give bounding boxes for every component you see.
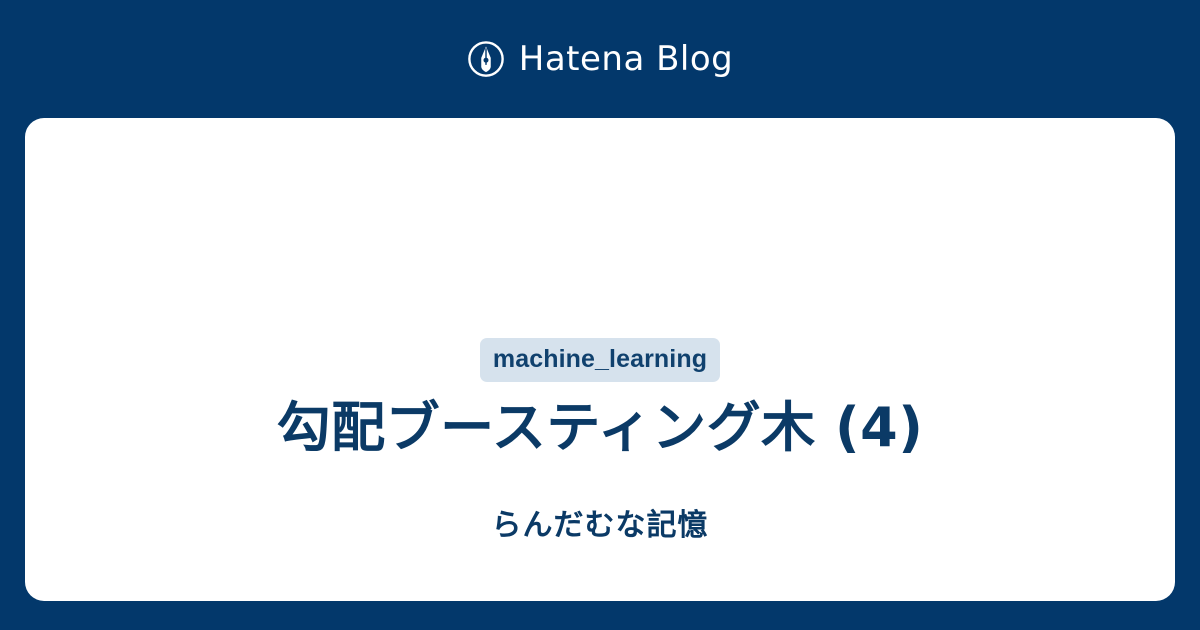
brand-header: Hatena Blog	[0, 0, 1200, 118]
blog-name[interactable]: らんだむな記憶	[492, 508, 709, 544]
entry-card: machine_learning 勾配ブースティング木 (4) らんだむな記憶	[25, 118, 1175, 601]
blog-name-row: らんだむな記憶	[25, 508, 1175, 544]
brand-name: Hatena Blog	[519, 42, 734, 76]
entry-title: 勾配ブースティング木 (4)	[277, 398, 924, 458]
category-badge[interactable]: machine_learning	[480, 338, 720, 382]
entry-main: machine_learning 勾配ブースティング木 (4)	[25, 118, 1175, 458]
hatena-blog-og-card: Hatena Blog machine_learning 勾配ブースティング木 …	[0, 0, 1200, 630]
fountain-pen-nib-circle-icon	[467, 40, 505, 78]
